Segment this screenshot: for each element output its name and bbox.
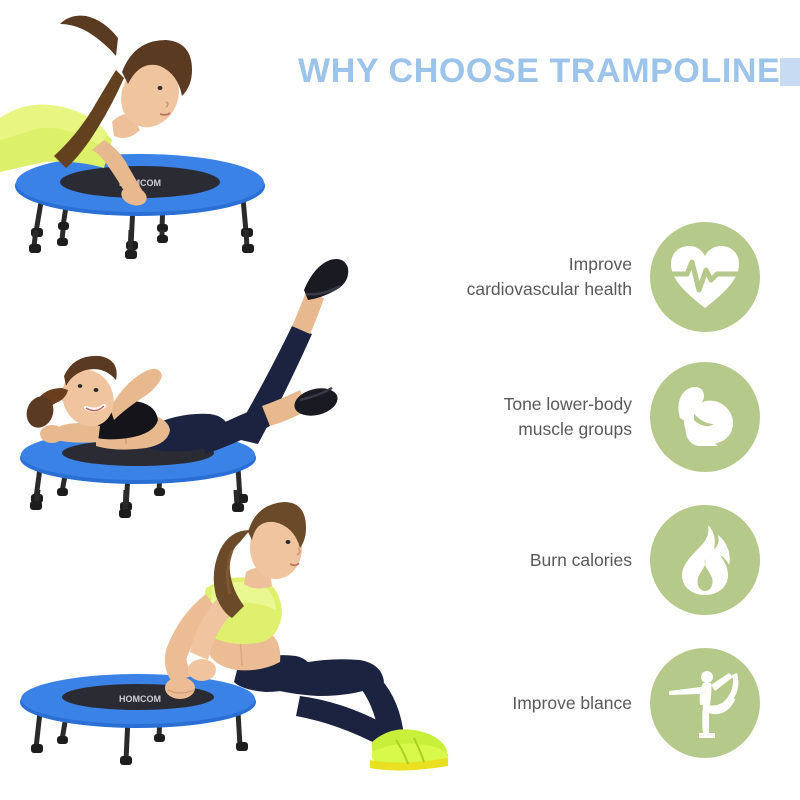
heart-pulse-icon bbox=[650, 222, 760, 332]
benefit-item-burn-calories[interactable]: Burn calories bbox=[400, 501, 760, 619]
benefit-label-burn-calories: Burn calories bbox=[530, 548, 650, 573]
photo-core-crunch-on-trampoline bbox=[0, 230, 380, 510]
svg-text:HOMCOM: HOMCOM bbox=[119, 694, 161, 704]
balance-yoga-pose-icon bbox=[650, 648, 760, 758]
flame-icon bbox=[650, 505, 760, 615]
benefit-item-cardiovascular[interactable]: Improve cardiovascular health bbox=[400, 218, 760, 336]
benefit-label-improve-balance: Improve blance bbox=[512, 691, 650, 716]
title-accent-block bbox=[780, 58, 800, 86]
photo-plank-on-trampoline: HOMCOM bbox=[0, 0, 280, 250]
benefit-item-improve-balance[interactable]: Improve blance bbox=[400, 644, 760, 762]
benefit-label-cardiovascular: Improve cardiovascular health bbox=[467, 252, 650, 302]
page-title: WHY CHOOSE TRAMPOLINE? bbox=[298, 52, 800, 91]
flexed-bicep-icon bbox=[650, 362, 760, 472]
benefit-label-tone-muscles: Tone lower-body muscle groups bbox=[504, 392, 650, 442]
benefit-item-tone-muscles[interactable]: Tone lower-body muscle groups bbox=[400, 358, 760, 476]
infographic-page: WHY CHOOSE TRAMPOLINE? H bbox=[0, 0, 800, 800]
